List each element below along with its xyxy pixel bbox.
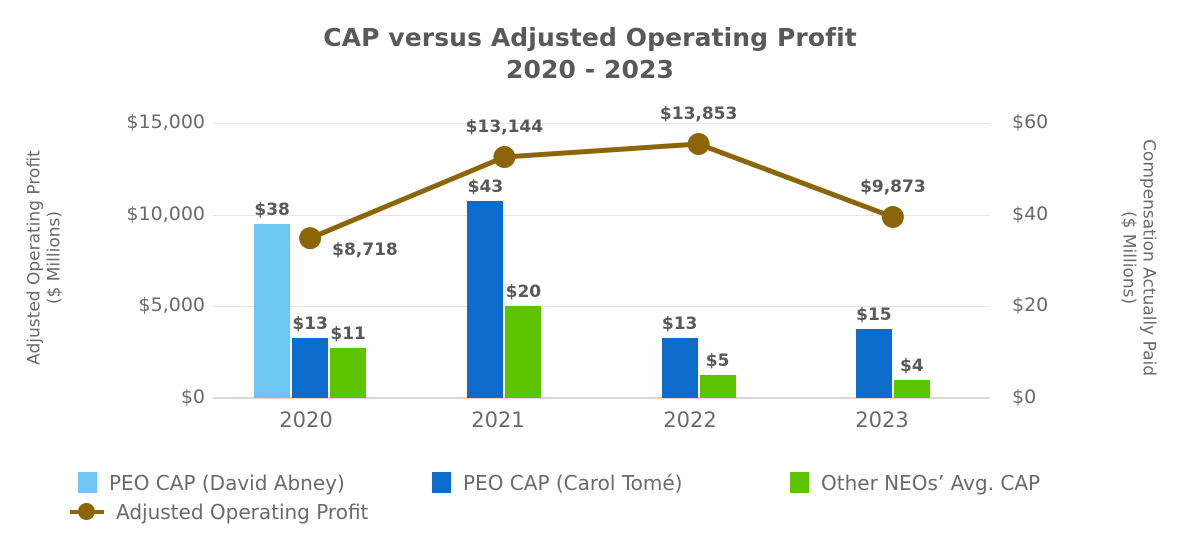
legend-label-peo-abney: PEO CAP (David Abney) [109, 471, 345, 495]
legend-item-other-neos-avg-cap[interactable]: Other NEOs’ Avg. CAP [790, 468, 1040, 497]
legend-label-other-neos: Other NEOs’ Avg. CAP [821, 471, 1040, 495]
y-axis-right-tick-40: $40 [1012, 203, 1102, 225]
line-value-label-2021: $13,144 [444, 117, 564, 137]
x-axis-tick-2023: 2023 [802, 408, 962, 432]
chart-legend: PEO CAP (David Abney) PEO CAP (Carol Tom… [78, 468, 1138, 526]
line-marker-2020 [299, 227, 321, 249]
legend-row-2: Adjusted Operating Profit [78, 497, 1138, 526]
y-axis-left-tick-5000: $5,000 [95, 294, 205, 316]
legend-line-marker-icon-aop [70, 501, 104, 522]
y-axis-left-title-line1: Adjusted Operating Profit [25, 108, 45, 408]
legend-label-aop: Adjusted Operating Profit [116, 500, 368, 524]
line-series-svg [213, 123, 990, 398]
y-axis-right-tick-60: $60 [1012, 111, 1102, 133]
y-axis-right-tick-20: $20 [1012, 294, 1102, 316]
x-axis-tick-2022: 2022 [610, 408, 770, 432]
legend-item-peo-cap-david-abney[interactable]: PEO CAP (David Abney) [78, 468, 345, 497]
y-axis-left-tick-0: $0 [95, 386, 205, 408]
legend-swatch-icon-peo-abney [78, 472, 97, 493]
legend-item-adjusted-operating-profit[interactable]: Adjusted Operating Profit [70, 497, 368, 526]
y-axis-left-tick-15000: $15,000 [95, 111, 205, 133]
y-axis-left-title: Adjusted Operating Profit ($ Millions) [25, 108, 64, 408]
legend-item-peo-cap-carol-tome[interactable]: PEO CAP (Carol Tomé) [432, 468, 682, 497]
legend-swatch-icon-other-neos [790, 472, 809, 493]
chart-title-line2: 2020 - 2023 [0, 54, 1180, 86]
x-axis-tick-2021: 2021 [418, 408, 578, 432]
y-axis-left-tick-10000: $10,000 [95, 203, 205, 225]
y-axis-right-title-line2: ($ Millions) [1118, 108, 1138, 408]
line-value-label-2023: $9,873 [833, 177, 953, 197]
y-axis-right-title: Compensation Actually Paid ($ Millions) [1118, 108, 1157, 408]
y-axis-right-title-line1: Compensation Actually Paid [1138, 108, 1158, 408]
legend-label-peo-tome: PEO CAP (Carol Tomé) [463, 471, 682, 495]
x-axis-tick-2020: 2020 [226, 408, 386, 432]
line-marker-2022 [688, 133, 710, 155]
legend-row-1: PEO CAP (David Abney) PEO CAP (Carol Tom… [78, 468, 1138, 497]
y-axis-right-tick-0: $0 [1012, 386, 1102, 408]
legend-swatch-icon-peo-tome [432, 472, 451, 493]
plot-area: $38$13$11$43$20$13$5$15$4 $8,718$13,144$… [213, 123, 990, 398]
line-marker-2021 [493, 146, 515, 168]
chart-title-line1: CAP versus Adjusted Operating Profit [323, 23, 857, 52]
line-marker-2023 [882, 206, 904, 228]
y-axis-left-title-line2: ($ Millions) [45, 108, 65, 408]
chart-container: CAP versus Adjusted Operating Profit 202… [0, 0, 1180, 560]
legend-circle-marker-icon [78, 503, 95, 520]
line-path-adjusted-operating-profit [310, 144, 893, 238]
line-value-label-2022: $13,853 [639, 104, 759, 124]
chart-title: CAP versus Adjusted Operating Profit 202… [0, 22, 1180, 86]
line-value-label-2020: $8,718 [332, 240, 398, 260]
